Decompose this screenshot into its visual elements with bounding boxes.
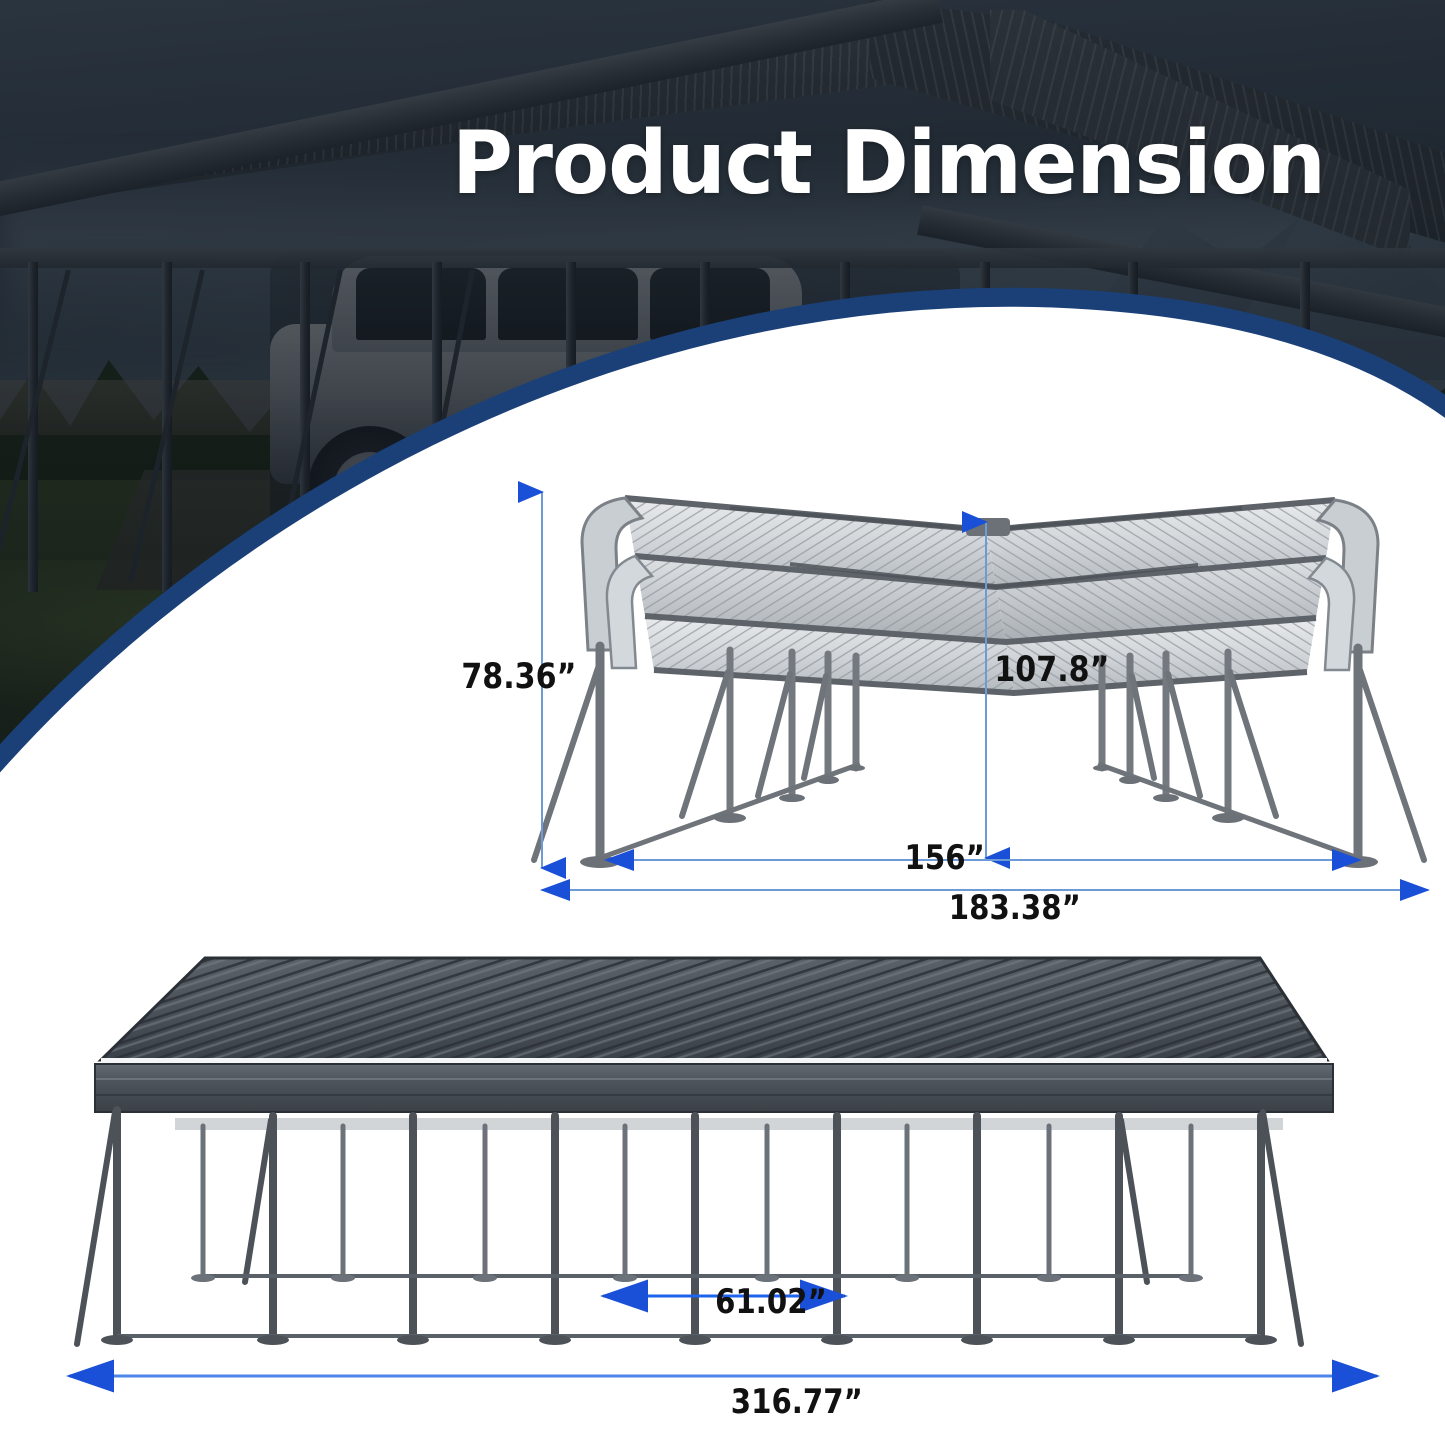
dim-label-inner-width: 156” — [905, 838, 985, 878]
side-posts — [117, 1110, 1261, 1340]
dim-label-overall-length: 316.77” — [731, 1382, 863, 1422]
carport-front-perspective-diagram — [430, 350, 1440, 910]
side-ground-rails — [117, 1276, 1261, 1336]
dim-label-post-spacing: 61.02” — [715, 1282, 827, 1322]
ridge-cap-block — [966, 518, 1010, 536]
side-fascia-beam — [95, 1064, 1333, 1112]
dim-label-eave-height: 78.36” — [461, 657, 576, 697]
side-roof-panel — [101, 958, 1327, 1060]
carport-side-perspective-diagram — [55, 940, 1395, 1410]
dim-label-peak-height: 107.8” — [994, 650, 1109, 690]
dim-label-outer-width: 183.38” — [949, 888, 1081, 928]
infographic-canvas: Product Dimension — [0, 0, 1445, 1445]
page-title: Product Dimension — [452, 121, 1355, 205]
